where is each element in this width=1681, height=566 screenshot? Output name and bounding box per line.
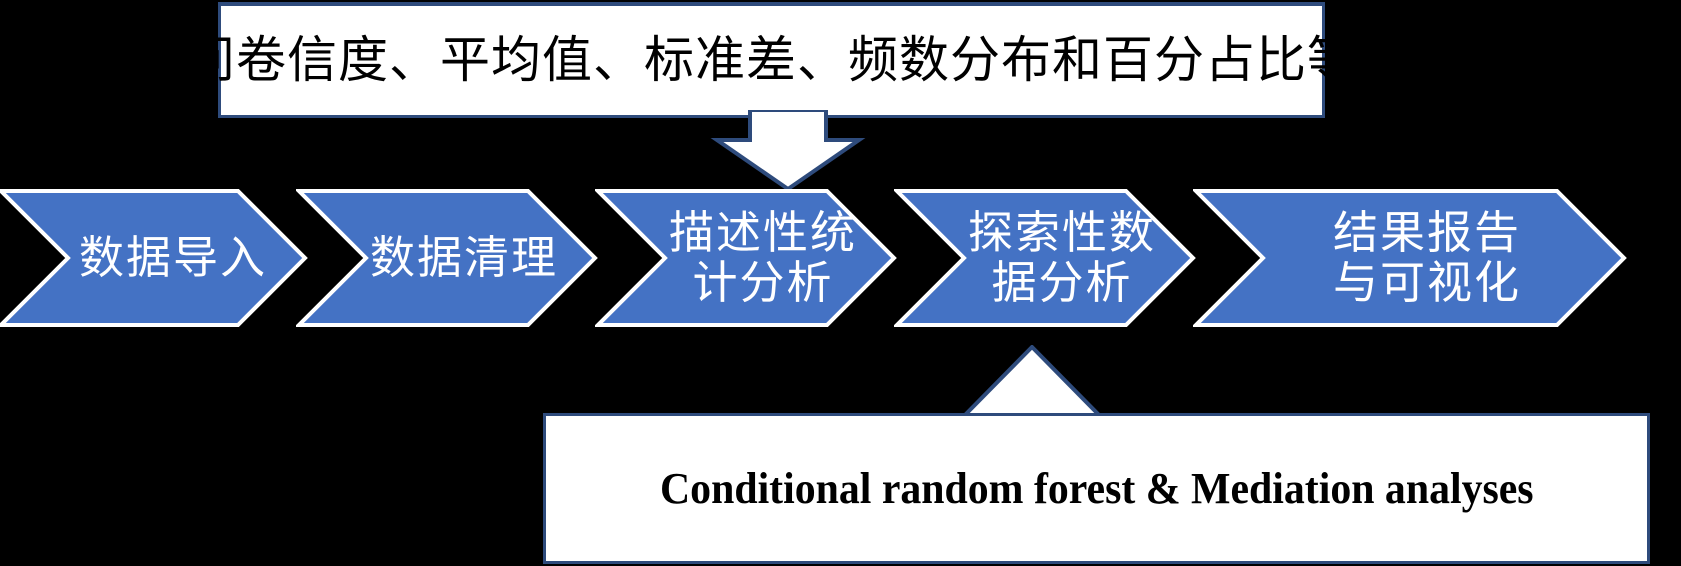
top-callout-text: 问卷信度、平均值、标准差、频数分布和百分占比等 [185,34,1358,87]
bottom-callout-text: Conditional random forest & Mediation an… [660,463,1534,514]
process-step-2-label: 数据清理 [336,233,558,283]
process-step-4-label: 探索性数 据分析 [934,208,1156,309]
process-step-1-label: 数据导入 [39,233,267,283]
up-arrow-connector [930,345,1160,420]
process-chevron-row: 数据导入 数据清理 描述性统 计分析 探索性数 据分析 [0,188,1681,328]
diagram-canvas: 问卷信度、平均值、标准差、频数分布和百分占比等 数据导入 数据清理 描述性统 计… [0,0,1681,566]
down-arrow-connector [680,110,880,192]
process-step-1[interactable]: 数据导入 [0,188,308,328]
process-step-5[interactable]: 结果报告 与可视化 [1193,188,1627,328]
up-arrow-icon [965,347,1099,420]
process-step-2[interactable]: 数据清理 [296,188,598,328]
process-step-3-label: 描述性统 计分析 [635,208,857,309]
top-callout-box[interactable]: 问卷信度、平均值、标准差、频数分布和百分占比等 [218,2,1325,118]
process-step-3[interactable]: 描述性统 计分析 [595,188,897,328]
process-step-5-label: 结果报告 与可视化 [1299,208,1521,309]
bottom-callout-box[interactable]: Conditional random forest & Mediation an… [543,413,1650,564]
down-arrow-icon [717,110,859,189]
process-step-4[interactable]: 探索性数 据分析 [894,188,1196,328]
